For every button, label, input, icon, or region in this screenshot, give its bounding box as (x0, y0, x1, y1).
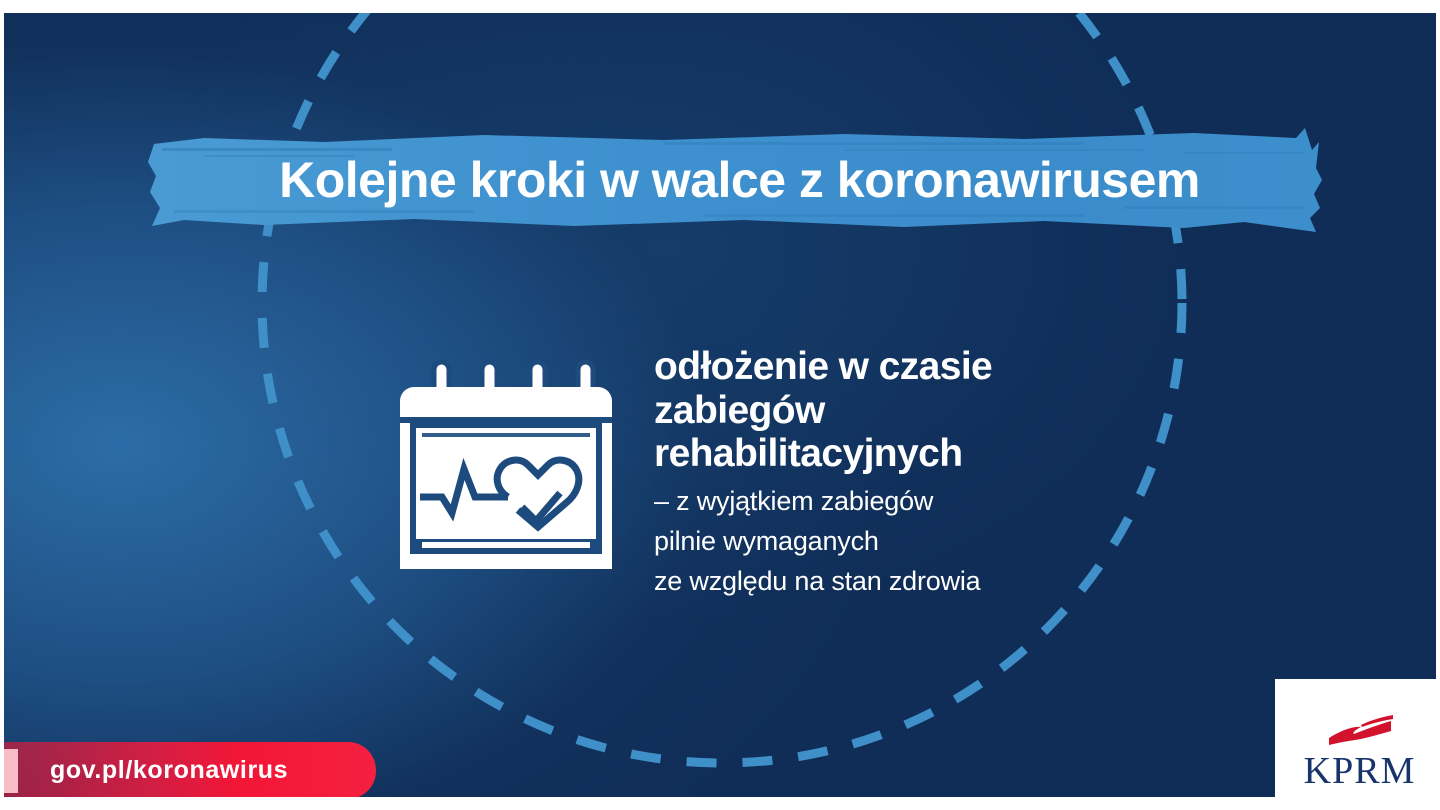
headline-text: odłożenie w czasie zabiegów rehabilitacy… (654, 345, 1174, 476)
website-url-label: gov.pl/koronawirus (50, 756, 288, 785)
poster-canvas: Kolejne kroki w walce z koronawirusem (0, 0, 1440, 810)
polish-flag-emblem-icon (1321, 712, 1399, 748)
website-badge[interactable]: gov.pl/koronawirus (4, 742, 376, 797)
kprm-logo: KPRM (1275, 679, 1436, 797)
badge-left-edge-accent (4, 749, 18, 793)
subline-text: – z wyjątkiem zabiegów pilnie wymaganych… (654, 482, 1174, 602)
page-title: Kolejne kroki w walce z koronawirusem (144, 122, 1329, 238)
title-banner: Kolejne kroki w walce z koronawirusem (144, 122, 1329, 238)
main-text-block: odłożenie w czasie zabiegów rehabilitacy… (654, 345, 1174, 602)
kprm-wordmark: KPRM (1304, 752, 1416, 790)
calendar-heartbeat-icon (382, 357, 614, 577)
artwork-area: Kolejne kroki w walce z koronawirusem (4, 13, 1436, 797)
